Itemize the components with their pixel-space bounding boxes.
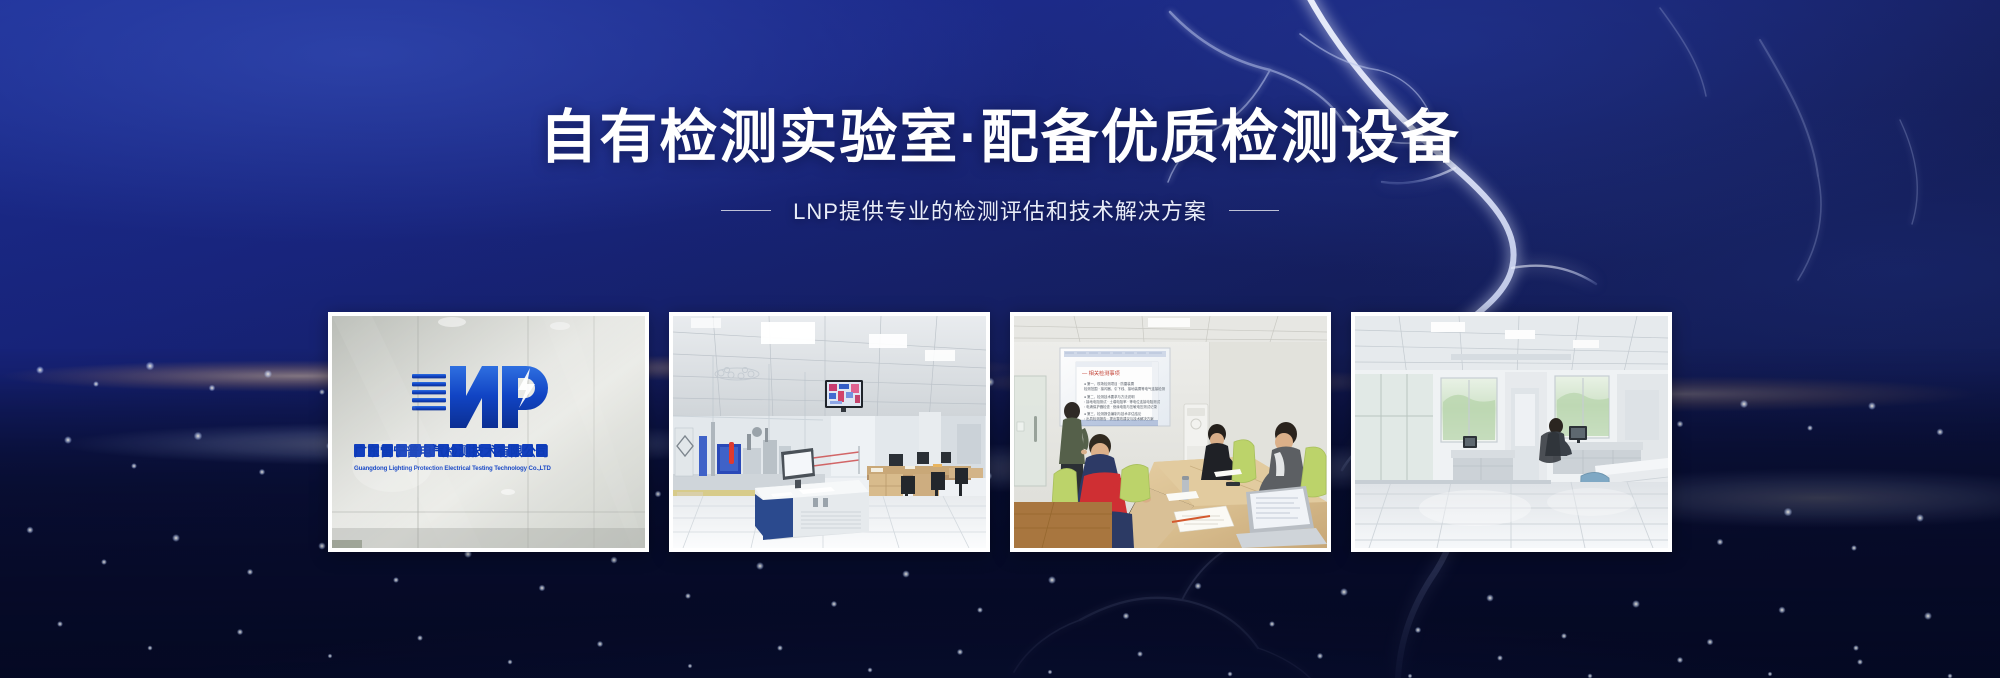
photo-company-signage: 广东雷宁普电气检测技术有限公司 Guangdong Lighting Prote…: [332, 316, 645, 548]
svg-text:◦ 电涌保护器检查 · 绝缘电阻与压敏电压测试记录: ◦ 电涌保护器检查 · 绝缘电阻与压敏电压测试记录: [1084, 404, 1158, 409]
gallery-card-office-area[interactable]: [1351, 312, 1672, 552]
svg-text:● 第二、检测技术要求与方法说明: ● 第二、检测技术要求与方法说明: [1084, 394, 1135, 399]
signage-company-name-en: Guangdong Lighting Protection Electrical…: [354, 465, 551, 472]
svg-text:检测范围 · 接闪器、引下线、接地装置等电气连接检测: 检测范围 · 接闪器、引下线、接地装置等电气连接检测: [1084, 386, 1166, 391]
right-rule-decoration: [1229, 210, 1279, 211]
hero-text-block: 自有检测实验室·配备优质检测设备 LNP提供专业的检测评估和技术解决方案: [0, 104, 2000, 226]
gallery-card-training-meeting-room[interactable]: — 相关检测事项 ● 第一、现场检测项目 · 防雷装置 检测范围 · 接闪器、引…: [1010, 312, 1331, 552]
page-subtitle: LNP提供专业的检测评估和技术解决方案: [793, 194, 1207, 226]
photo-testing-laboratory: [673, 316, 986, 548]
page-title: 自有检测实验室·配备优质检测设备: [0, 104, 2000, 172]
svg-text:● 第三、检测报告编制与技术评估结论: ● 第三、检测报告编制与技术评估结论: [1084, 411, 1142, 416]
svg-text:● 第一、现场检测项目 · 防雷装置: ● 第一、现场检测项目 · 防雷装置: [1084, 381, 1135, 386]
hero-banner: 自有检测实验室·配备优质检测设备 LNP提供专业的检测评估和技术解决方案: [0, 0, 2000, 678]
gallery-card-testing-laboratory[interactable]: [669, 312, 990, 552]
svg-text:◦ 接地电阻测试 · 土壤电阻率 · 等电位连接电阻测试: ◦ 接地电阻测试 · 土壤电阻率 · 等电位连接电阻测试: [1084, 399, 1161, 404]
photo-gallery-strip: 广东雷宁普电气检测技术有限公司 Guangdong Lighting Prote…: [328, 312, 1672, 552]
signage-company-name-cn: 广东雷宁普电气检测技术有限公司: [354, 444, 549, 460]
subtitle-row: LNP提供专业的检测评估和技术解决方案: [0, 194, 2000, 226]
photo-office-area: [1355, 316, 1668, 548]
left-rule-decoration: [721, 210, 771, 211]
photo-training-meeting-room: — 相关检测事项 ● 第一、现场检测项目 · 防雷装置 检测范围 · 接闪器、引…: [1014, 316, 1327, 548]
gallery-card-company-signage[interactable]: 广东雷宁普电气检测技术有限公司 Guangdong Lighting Prote…: [328, 312, 649, 552]
svg-text:— 相关检测事项: — 相关检测事项: [1082, 369, 1120, 377]
